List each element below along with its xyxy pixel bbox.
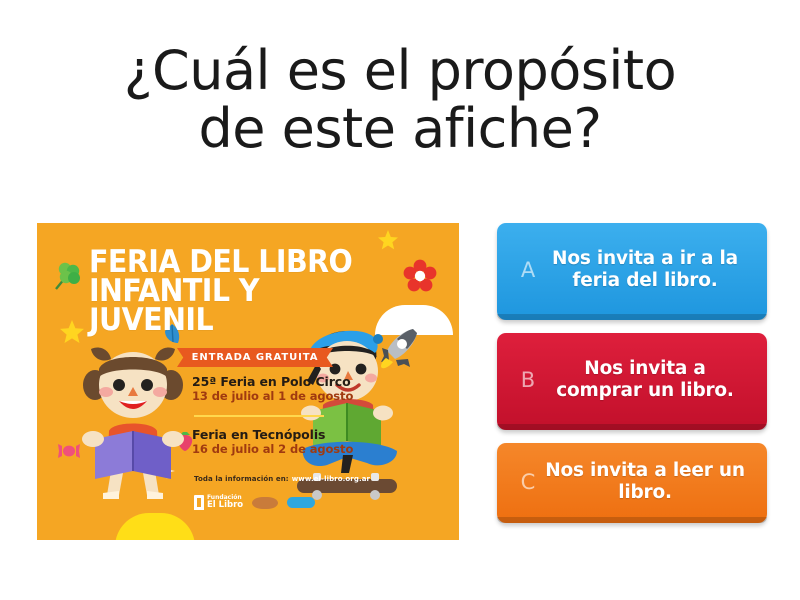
sponsor-logo-2	[287, 497, 315, 508]
question-line-2: de este afiche?	[199, 97, 602, 160]
poster-heading: FERIA DEL LIBRO INFANTIL Y JUVENIL	[89, 248, 383, 335]
answer-letter-b: B	[511, 368, 545, 392]
poster-divider	[194, 415, 324, 417]
info-url: www.el-libro.org.ar	[292, 475, 370, 483]
page-title: ¿Cuál es el propósito de este afiche?	[40, 42, 760, 159]
clover-icon	[51, 259, 85, 293]
poster-event-2: Feria en Tecnópolis 16 de julio al 2 de …	[192, 428, 382, 457]
book-logo-icon	[194, 495, 204, 510]
info-label: Toda la información en:	[194, 475, 289, 483]
poster-info-line: Toda la información en:www.el-libro.org.…	[194, 475, 370, 483]
logo-main-text: El Libro	[207, 501, 243, 510]
answer-text-a: Nos invita a ir a la feria del libro.	[545, 248, 753, 292]
answer-letter-a: A	[511, 258, 545, 282]
answer-letter-c: C	[511, 470, 545, 494]
poster-image: FERIA DEL LIBRO INFANTIL Y JUVENIL ENTRA…	[37, 223, 459, 540]
event-2-date: 16 de julio al 2 de agosto	[192, 443, 382, 457]
yellow-cloud-shape	[115, 513, 195, 540]
event-1-name: 25ª Feria en Polo Circo	[192, 375, 382, 389]
quiz-screen: ¿Cuál es el propósito de este afiche?	[0, 0, 800, 600]
girl-reading-illustration	[73, 343, 193, 503]
flower-icon	[403, 259, 437, 293]
answer-text-b: Nos invita a comprar un libro.	[545, 358, 753, 402]
event-1-date: 13 de julio al 1 de agosto	[192, 390, 382, 404]
event-2-name: Feria en Tecnópolis	[192, 428, 382, 442]
answer-text-c: Nos invita a leer un libro.	[545, 460, 753, 504]
entrada-gratuita-ribbon: ENTRADA GRATUITA	[177, 348, 333, 367]
answer-options: A Nos invita a ir a la feria del libro. …	[497, 223, 767, 536]
star-icon	[59, 319, 85, 345]
sponsor-logo-1	[252, 497, 278, 509]
question-line-1: ¿Cuál es el propósito	[124, 39, 676, 102]
answer-option-b[interactable]: B Nos invita a comprar un libro.	[497, 333, 767, 430]
poster-title-line-2: INFANTIL Y JUVENIL	[89, 277, 383, 335]
answer-option-c[interactable]: C Nos invita a leer un libro.	[497, 443, 767, 523]
fundacion-el-libro-logo: Fundación El Libro	[194, 495, 243, 510]
poster-event-1: 25ª Feria en Polo Circo 13 de julio al 1…	[192, 375, 382, 404]
poster-logos: Fundación El Libro	[194, 495, 315, 510]
answer-option-a[interactable]: A Nos invita a ir a la feria del libro.	[497, 223, 767, 320]
